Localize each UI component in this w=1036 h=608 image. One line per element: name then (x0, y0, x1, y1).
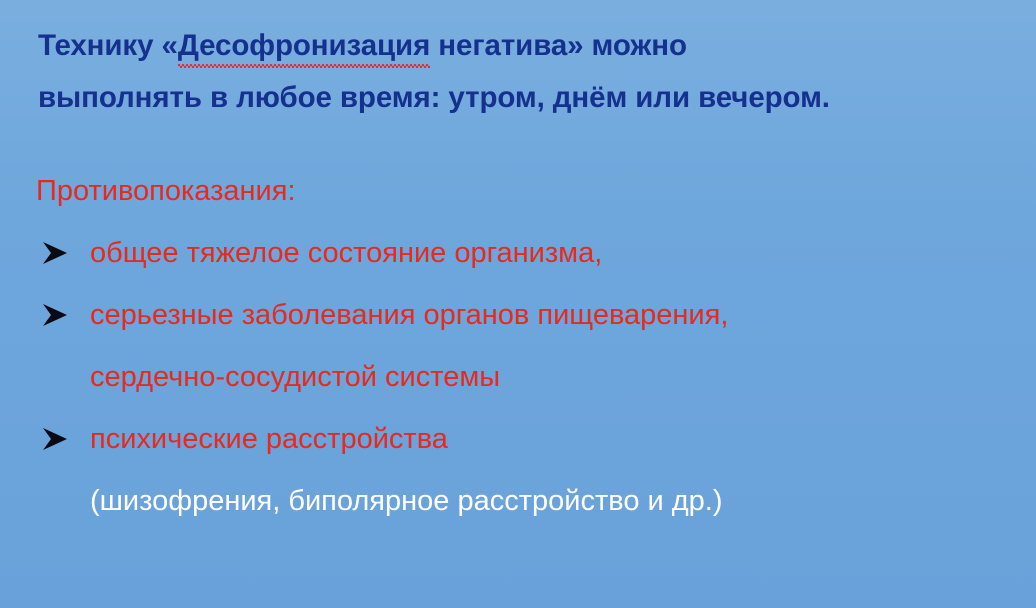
misspelled-word: Десофронизация (178, 20, 430, 72)
slide-canvas: Технику «Десофронизация негатива» можно … (0, 0, 1036, 608)
title-text-after-misspell: негатива» можно (430, 29, 687, 62)
arrowhead-bullet-icon (36, 408, 90, 470)
contraindications-label: Противопоказания: (36, 160, 1026, 222)
slide-body: Противопоказания: общее тяжелое состояни… (36, 160, 1026, 532)
title-line-2: выполнять в любое время: утром, днём или… (38, 72, 1018, 124)
arrowhead-bullet-icon (36, 284, 90, 346)
list-item: психические расстройства (36, 408, 1026, 470)
list-item-continuation: сердечно-сосудистой системы (36, 346, 1026, 408)
title-text-before-misspell: Технику « (38, 29, 178, 62)
slide-title: Технику «Десофронизация негатива» можно … (38, 20, 1018, 124)
title-line-1: Технику «Десофронизация негатива» можно (38, 20, 1018, 72)
list-item: общее тяжелое состояние организма, (36, 222, 1026, 284)
list-item: серьезные заболевания органов пищеварени… (36, 284, 1026, 346)
list-item-continuation-label: (шизофрения, биполярное расстройство и д… (90, 470, 723, 532)
arrowhead-bullet-icon (36, 222, 90, 284)
list-item-continuation: (шизофрения, биполярное расстройство и д… (36, 470, 1026, 532)
list-item-continuation-label: сердечно-сосудистой системы (90, 346, 500, 408)
list-item-label: общее тяжелое состояние организма, (90, 222, 602, 284)
list-item-label: серьезные заболевания органов пищеварени… (90, 284, 728, 346)
list-item-label: психические расстройства (90, 408, 448, 470)
